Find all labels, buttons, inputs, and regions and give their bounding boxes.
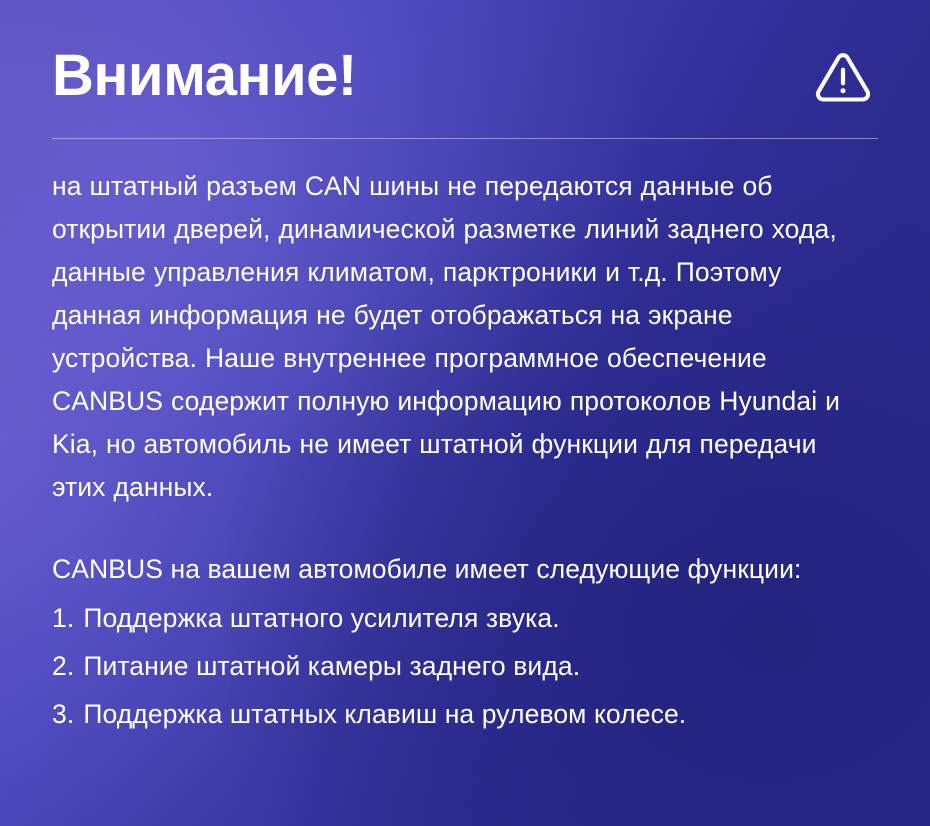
list-item: 1. Поддержка штатного усилителя звука.	[52, 597, 878, 640]
header-divider	[52, 138, 878, 139]
warning-notice-poster: Внимание! на штатный разъем CAN шины не …	[0, 0, 930, 826]
list-item-number: 3.	[52, 693, 74, 736]
list-item-number: 1.	[52, 597, 74, 640]
poster-content: Внимание! на штатный разъем CAN шины не …	[0, 0, 930, 826]
list-item-label: Поддержка штатного усилителя звука.	[83, 597, 559, 640]
warning-triangle-icon	[812, 46, 874, 108]
list-item-label: Поддержка штатных клавиш на рулевом коле…	[83, 693, 686, 736]
notice-body: на штатный разъем CAN шины не передаются…	[52, 165, 878, 736]
list-item-label: Питание штатной камеры заднего вида.	[83, 645, 580, 688]
poster-header: Внимание!	[52, 0, 878, 108]
list-item: 3. Поддержка штатных клавиш на рулевом к…	[52, 693, 878, 736]
features-list: 1. Поддержка штатного усилителя звука. 2…	[52, 597, 878, 736]
page-title: Внимание!	[52, 47, 357, 105]
features-block: CANBUS на вашем автомобиле имеет следующ…	[52, 548, 878, 736]
list-item: 2. Питание штатной камеры заднего вида.	[52, 645, 878, 688]
features-lead: CANBUS на вашем автомобиле имеет следующ…	[52, 548, 878, 591]
notice-paragraph: на штатный разъем CAN шины не передаются…	[52, 165, 874, 509]
list-item-number: 2.	[52, 645, 74, 688]
